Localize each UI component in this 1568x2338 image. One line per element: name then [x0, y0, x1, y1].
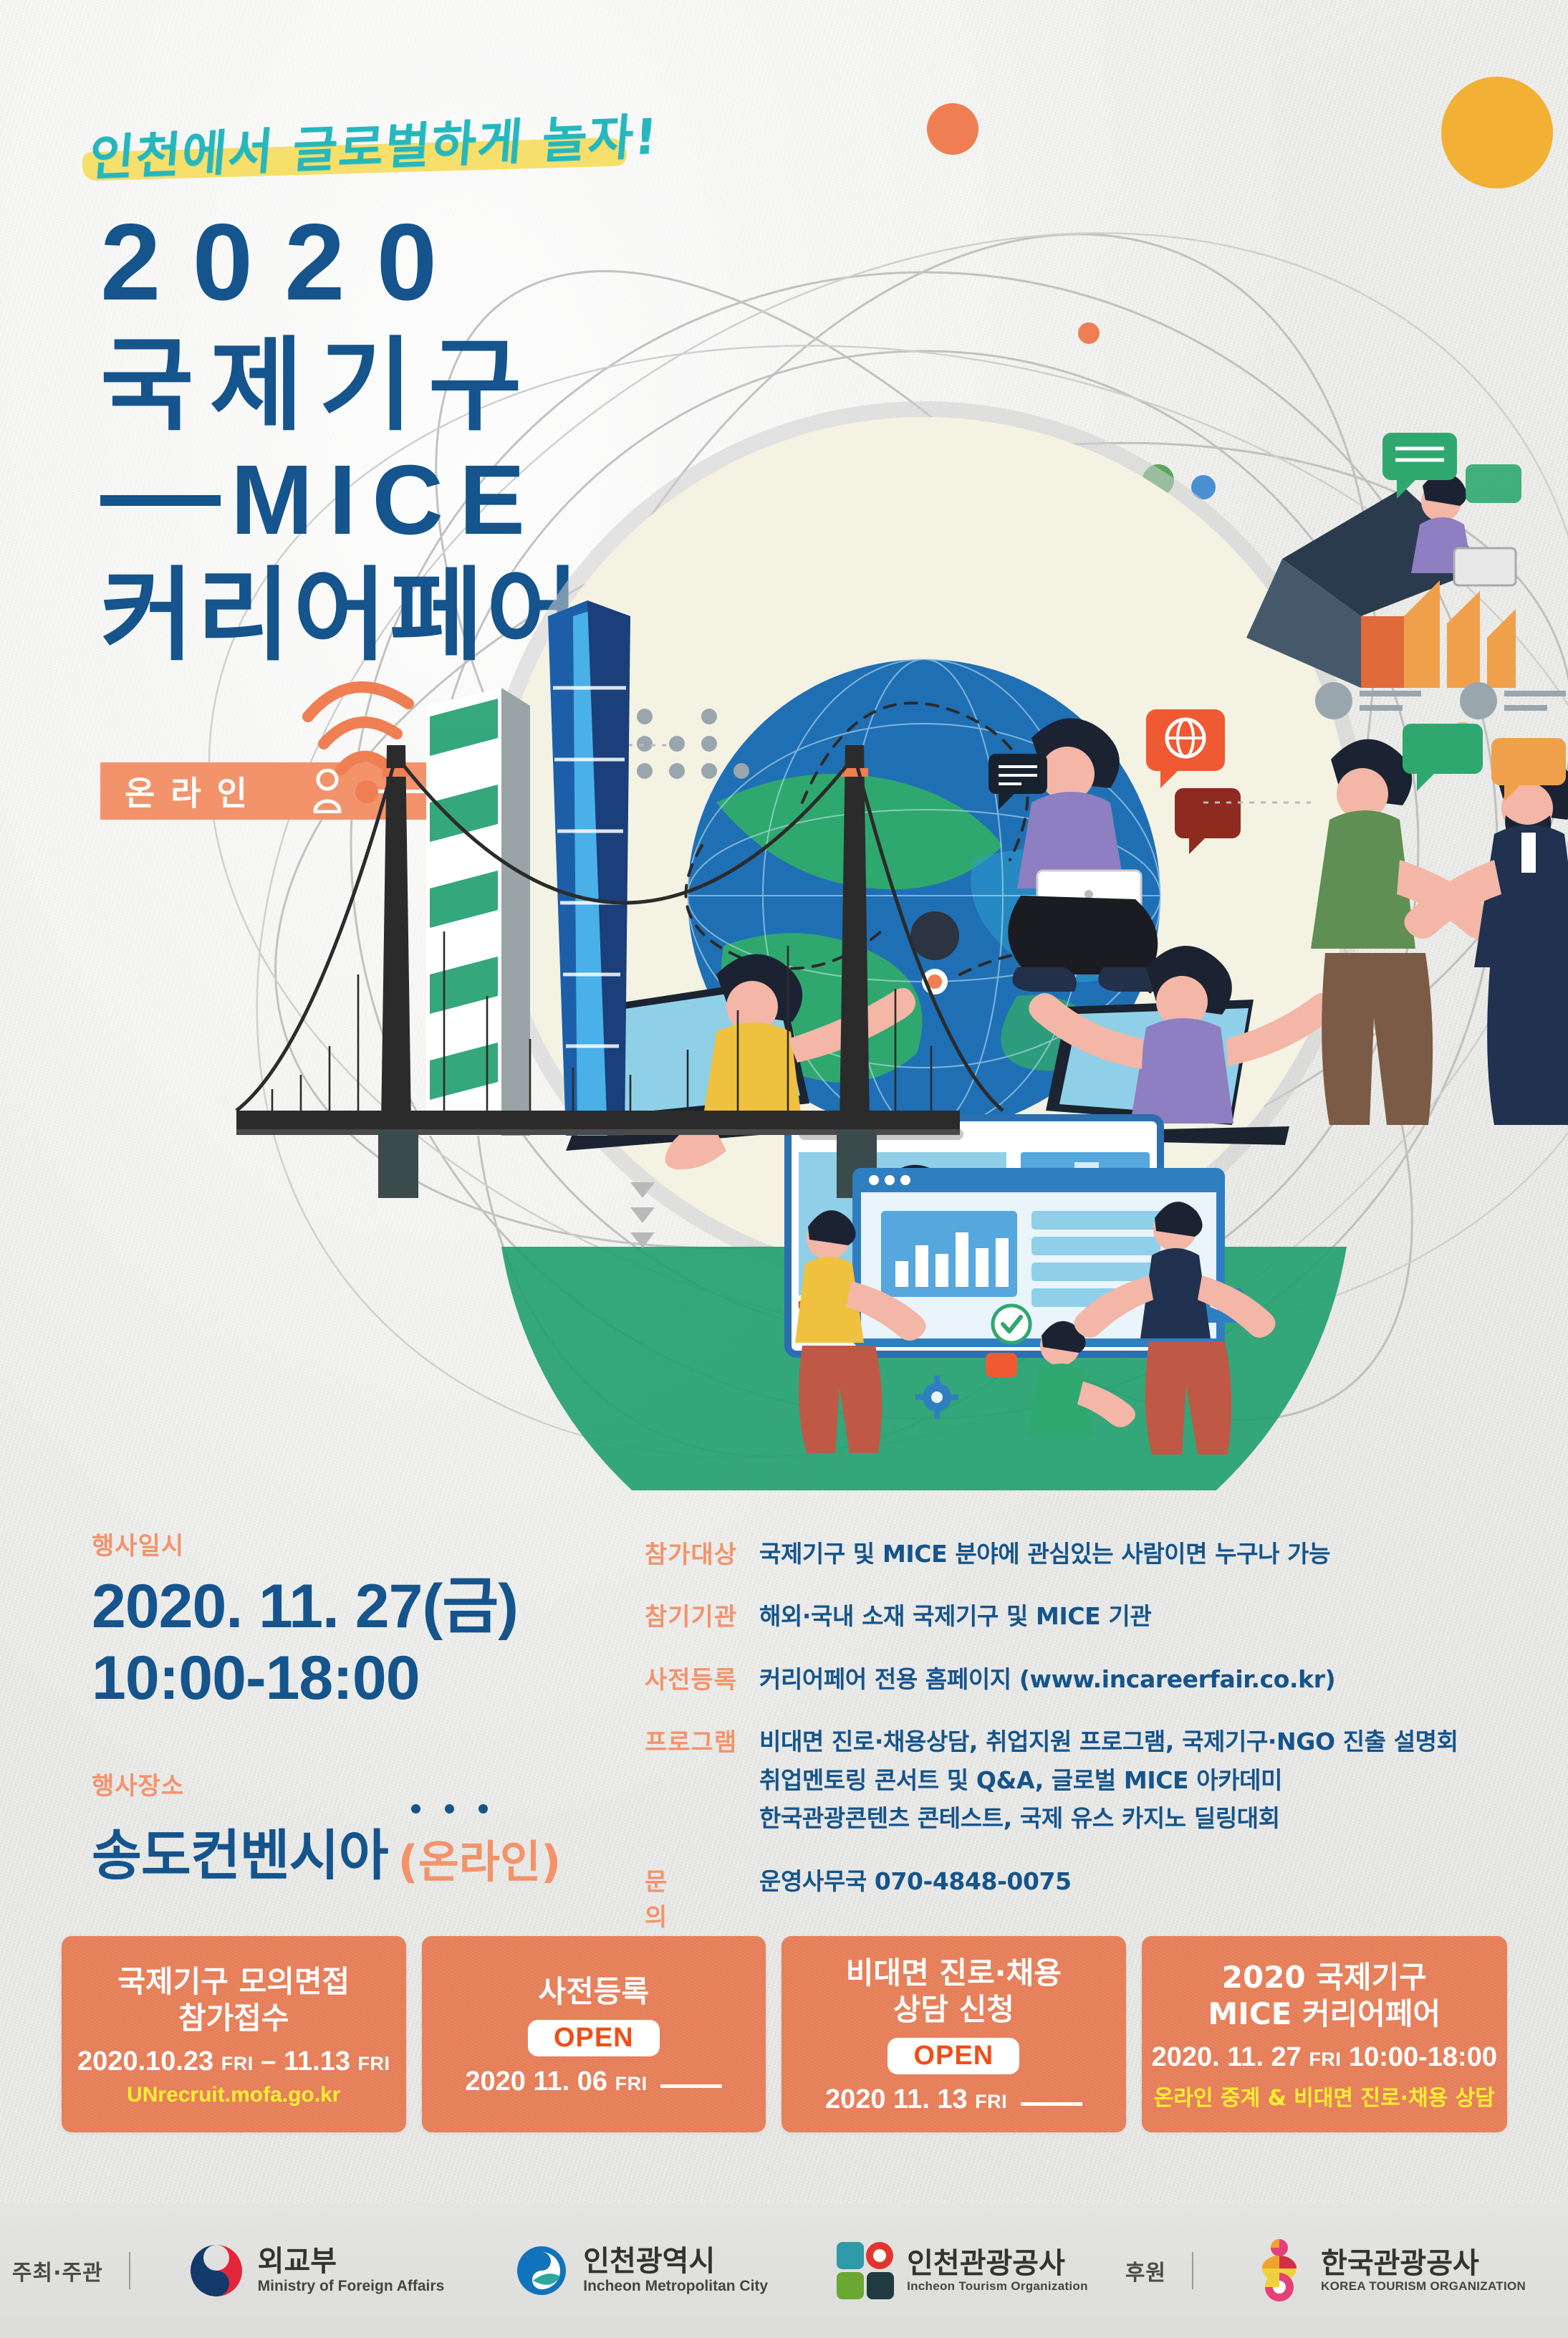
open-badge: OPEN [528, 2020, 660, 2056]
footer-divider [129, 2252, 130, 2289]
card-date-start: 2020 11. 06 [465, 2066, 607, 2097]
card-date: 2020. 11. 27 FRI 10:00-18:00 [1152, 2042, 1497, 2073]
card-date: 2020.10.23 FRI – 11.13 FRI [77, 2046, 390, 2077]
card-url[interactable]: UNrecruit.mofa.go.kr [127, 2083, 340, 2107]
card-consultation-request[interactable]: 비대면 진로·채용 상담 신청 OPEN 2020 11. 13 FRI [781, 1936, 1126, 2132]
detail-row-target: 참가대상 국제기구 및 MICE 분야에 관심있는 사람이면 누구나 가능 [645, 1535, 1490, 1573]
card-date: 2020 11. 06 FRI [465, 2066, 722, 2097]
detail-key: 참가대상 [645, 1535, 759, 1573]
detail-value: 국제기구 및 MICE 분야에 관심있는 사람이면 누구나 가능 [759, 1535, 1330, 1573]
card-title-line1: 비대면 진로·채용 [846, 1955, 1062, 1990]
card-title-line2: MICE 커리어페어 [1208, 1996, 1440, 2031]
event-venue-mode: (온라인) [398, 1826, 562, 1890]
event-time-value: 10:00-18:00 [92, 1643, 636, 1715]
logo-name-kr: 한국관광공사 [1321, 2247, 1479, 2280]
card-title-line1: 2020 국제기구 [1222, 1960, 1427, 1995]
detail-value: 한국관광콘텐츠 콘테스트, 국제 유스 카지노 딜링대회 [759, 1799, 1458, 1837]
detail-value: 취업멘토링 콘서트 및 Q&A, 글로벌 MICE 아카데미 [759, 1761, 1458, 1799]
detail-value: 해외·국내 소재 국제기구 및 MICE 기관 [759, 1597, 1151, 1635]
logo-name-kr: 인천광역시 [583, 2245, 715, 2278]
detail-value: 비대면 진로·채용상담, 취업지원 프로그램, 국제기구·NGO 진출 설명회 [759, 1723, 1458, 1760]
card-title: 비대면 진로·채용 상담 신청 [846, 1955, 1062, 2028]
card-title-line2: 참가접수 [178, 2001, 289, 2036]
taegeuk-icon [186, 2241, 246, 2301]
footer-sponsor-label: 후원 [1125, 2255, 1166, 2286]
card-date-end-day: FRI [358, 2053, 390, 2074]
poster-root: 인천에서 글로벌하게 놀자! 2020 국제기구 MICE 커리어페어 온라인 [0, 0, 1568, 2338]
footer-host-label: 주최·주관 [12, 2255, 103, 2286]
logo-name-en: Incheon Tourism Organization [907, 2279, 1088, 2293]
card-date: 2020 11. 13 FRI [825, 2084, 1082, 2115]
footer-sponsors: 주최·주관 외교부 Ministry of Foreign Affairs 인천… [0, 2203, 1568, 2338]
card-title: 사전등록 [539, 1973, 650, 2010]
card-date-start: 2020. 11. 27 [1152, 2042, 1302, 2072]
incheon-city-icon [511, 2241, 572, 2301]
footer-divider [1192, 2252, 1193, 2289]
detail-row-contact: 문 의 운영사무국 070-4848-0075 [645, 1862, 1490, 1932]
tagline-block: 인천에서 글로벌하게 놀자! [90, 107, 659, 178]
cta-card-row: 국제기구 모의면접 참가접수 2020.10.23 FRI – 11.13 FR… [62, 1936, 1507, 2132]
chat-bubble-icon [1466, 464, 1521, 503]
tagline-text: 인천에서 글로벌하게 놀자! [87, 97, 661, 190]
logo-incheon-metropolitan-city: 인천광역시 Incheon Metropolitan City [511, 2241, 768, 2301]
card-date-start-day: FRI [221, 2053, 254, 2074]
dashboard-team-illustration: </> [774, 1161, 1418, 1462]
open-badge: OPEN [888, 2038, 1019, 2074]
card-note: 온라인 중계 & 비대면 진로·채용 상담 [1154, 2080, 1495, 2112]
card-date-time: 10:00-18:00 [1349, 2042, 1497, 2072]
card-date-start-day: FRI [1309, 2049, 1341, 2070]
card-main-event[interactable]: 2020 국제기구 MICE 커리어페어 2020. 11. 27 FRI 10… [1142, 1936, 1507, 2132]
event-date-label: 행사일시 [92, 1526, 636, 1561]
logo-name-kr: 인천관광공사 [907, 2247, 1065, 2280]
detail-value[interactable]: 커리어페어 전용 홈페이지 (www.incareerfair.co.kr) [759, 1660, 1335, 1698]
logo-name-en: Incheon Metropolitan City [583, 2278, 768, 2294]
card-title-line2: 상담 신청 [893, 1992, 1014, 2027]
detail-key: 사전등록 [645, 1660, 759, 1698]
chat-bubble-icon [1491, 738, 1566, 785]
card-title: 2020 국제기구 MICE 커리어페어 [1208, 1959, 1440, 2032]
card-title-line1: 국제기구 모의면접 [117, 1964, 350, 1999]
logo-ministry-of-foreign-affairs: 외교부 Ministry of Foreign Affairs [186, 2241, 445, 2301]
event-venue-name: 송도컨벤시아 [92, 1811, 388, 1890]
card-title: 국제기구 모의면접 참가접수 [117, 1963, 350, 2036]
card-date-start-day: FRI [975, 2091, 1007, 2112]
event-venue-label: 행사장소 [92, 1766, 636, 1801]
venue-dots-decoration [411, 1804, 488, 1814]
logo-name-en: KOREA TOURISM ORGANIZATION [1321, 2279, 1526, 2293]
title-year: 2020 [100, 208, 582, 317]
event-venue-mode-text: (온라인) [398, 1836, 562, 1888]
chat-bubble-icon [1403, 724, 1483, 774]
detail-row-participating-orgs: 참기기관 해외·국내 소재 국제기구 및 MICE 기관 [645, 1597, 1490, 1635]
convention-center-illustration [1246, 433, 1521, 688]
detail-key: 문 의 [645, 1862, 759, 1932]
incheon-tourism-icon [835, 2241, 895, 2301]
card-date-start: 2020 11. 13 [825, 2084, 968, 2114]
event-details-list: 참가대상 국제기구 및 MICE 분야에 관심있는 사람이면 누구나 가능 참기… [645, 1535, 1490, 1957]
logo-korea-tourism-organization: 한국관광공사 KOREA TOURISM ORGANIZATION [1249, 2238, 1526, 2303]
chat-bubble-icon [1382, 433, 1457, 480]
event-date-value: 2020. 11. 27(금) [92, 1571, 636, 1643]
event-datetime-block: 행사일시 2020. 11. 27(금) 10:00-18:00 행사장소 송도… [92, 1526, 636, 1890]
blank-underline [1021, 2102, 1082, 2106]
detail-key: 프로그램 [645, 1723, 759, 1837]
card-mock-interview[interactable]: 국제기구 모의면접 참가접수 2020.10.23 FRI – 11.13 FR… [62, 1936, 406, 2132]
card-date-end: 11.13 [284, 2046, 350, 2076]
card-date-start: 2020.10.23 [77, 2046, 213, 2076]
handshake-illustration [1311, 682, 1568, 1125]
chat-bubble-icon [986, 1353, 1017, 1377]
detail-row-preregistration: 사전등록 커리어페어 전용 홈페이지 (www.incareerfair.co.… [645, 1660, 1490, 1698]
card-date-start-day: FRI [615, 2073, 648, 2094]
card-preregistration[interactable]: 사전등록 OPEN 2020 11. 06 FRI [422, 1936, 766, 2132]
detail-row-program: 프로그램 비대면 진로·채용상담, 취업지원 프로그램, 국제기구·NGO 진출… [645, 1723, 1490, 1837]
gear-icon [915, 1376, 958, 1419]
kto-person-icon [1249, 2238, 1309, 2303]
logo-incheon-tourism-organization: 인천관광공사 Incheon Tourism Organization [835, 2241, 1088, 2301]
logo-name-en: Ministry of Foreign Affairs [258, 2278, 445, 2294]
chat-bubble-icon [1175, 788, 1241, 838]
detail-value: 운영사무국 070-4848-0075 [759, 1862, 1072, 1900]
logo-name-kr: 외교부 [258, 2245, 337, 2278]
blank-underline [660, 2084, 722, 2088]
detail-key: 참기기관 [645, 1597, 759, 1635]
